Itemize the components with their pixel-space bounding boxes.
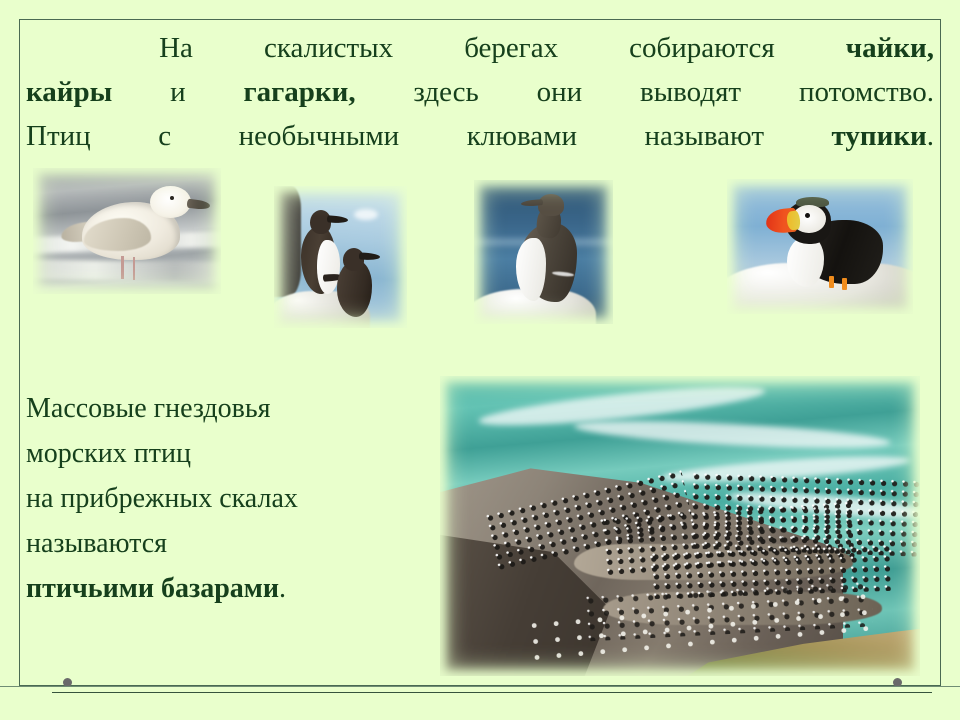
bottom-paragraph-line-1: Массовые гнездовья — [26, 386, 426, 431]
word-na: На — [159, 26, 193, 70]
puffin-leg — [829, 276, 834, 288]
white-gull-on-ice-photo — [33, 168, 221, 294]
word-klyuvami: клювами — [467, 114, 577, 158]
term-ptichimi-bazarami: птичьими базарами — [26, 573, 279, 604]
word-s: с — [158, 114, 171, 158]
two-guillemots-photo — [274, 186, 407, 328]
guillemots-photo-content — [274, 186, 407, 328]
atlantic-puffin-photo — [727, 179, 913, 314]
word-oni: они — [537, 70, 583, 114]
word-zdes: здесь — [413, 70, 478, 114]
decorative-rule-lower — [52, 692, 932, 693]
word-beregah: берегах — [464, 26, 558, 70]
puffin-eye — [805, 213, 810, 218]
bottom-paragraph-line-2: морских птиц — [26, 431, 426, 476]
bottom-paragraph-line-4: называются — [26, 521, 426, 566]
slide-canvas: На скалистых берегах собираются чайки, к… — [0, 0, 960, 720]
bottom-paragraph-line-3: на прибрежных скалах — [26, 476, 426, 521]
seabird-colony-cliff-photo — [440, 376, 920, 676]
top-paragraph: На скалистых берегах собираются чайки, к… — [26, 26, 934, 158]
gull-leg — [133, 257, 136, 280]
rock-pillar — [274, 186, 301, 297]
puffin-photo-content — [727, 179, 913, 314]
decorative-rule-upper — [0, 686, 960, 687]
word-potomstvo: потомство. — [799, 70, 934, 114]
single-guillemot-photo — [474, 180, 613, 324]
period-line3: . — [927, 120, 934, 152]
murre-head — [538, 194, 564, 216]
top-paragraph-line-3: Птиц с необычными клювами называют тупик… — [26, 114, 934, 158]
top-paragraph-line-2: кайры и гагарки, здесь они выводят потом… — [26, 70, 934, 114]
word-i: и — [170, 70, 186, 114]
gull-leg — [121, 256, 124, 279]
ice-ridge — [33, 259, 221, 283]
gull-photo-content — [33, 168, 221, 294]
term-chayki: чайки, — [846, 26, 934, 70]
word-vyvodyat: выводят — [640, 70, 741, 114]
term-tupiki: тупики — [832, 120, 927, 152]
bottom-paragraph-line-5: птичьими базарами. — [26, 566, 426, 611]
term-kayry: кайры — [26, 70, 112, 114]
puffin-leg — [842, 278, 847, 290]
word-nazyvayut: называют — [645, 114, 764, 158]
word-ptic: Птиц — [26, 114, 91, 158]
murre-photo-content — [474, 180, 613, 324]
period-bottom: . — [279, 573, 286, 604]
word-skalistyh: скалистых — [264, 26, 393, 70]
word-neobychnymi: необычными — [239, 114, 400, 158]
top-paragraph-line-1: На скалистых берегах собираются чайки, — [26, 26, 934, 70]
word-sobirayutsya: собираются — [629, 26, 775, 70]
bottom-paragraph: Массовые гнездовья морских птиц на прибр… — [26, 386, 426, 611]
cloud — [354, 209, 378, 220]
colony-photo-content — [440, 376, 920, 676]
term-gagarki: гагарки, — [243, 70, 355, 114]
gull-eye — [170, 196, 174, 200]
gull-head — [150, 186, 191, 219]
term-tupiki-wrap: тупики. — [832, 114, 934, 158]
paragraph-indent — [26, 26, 88, 70]
